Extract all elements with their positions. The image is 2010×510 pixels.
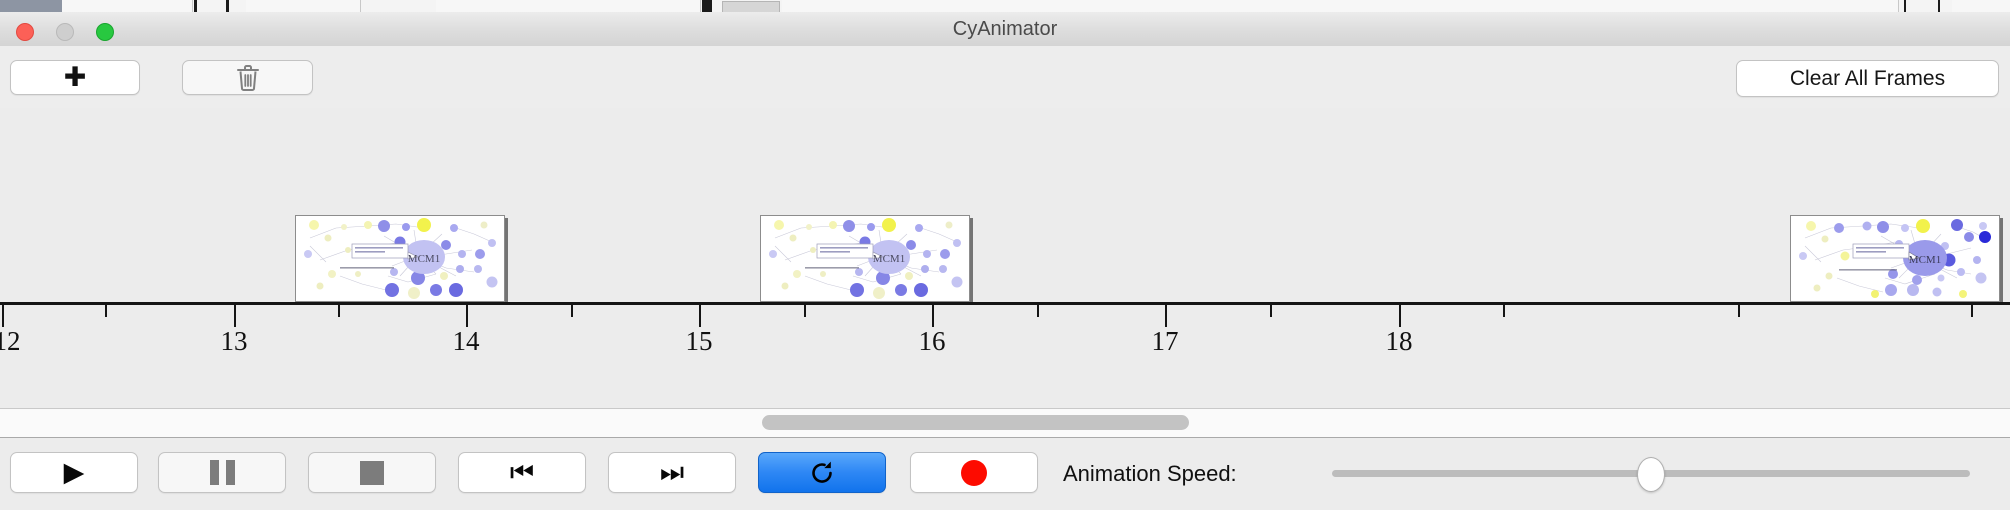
axis-label-12: 12 [0,326,21,357]
axis-tick-minor-6 [1270,305,1272,317]
timeline-scrollbar[interactable] [0,409,2010,438]
axis-label-17: 17 [1152,326,1179,357]
axis-tick-minor-3 [571,305,573,317]
title-bar: CyAnimator [0,12,2010,47]
animation-speed-slider[interactable] [1332,452,1970,494]
add-frame-button[interactable]: ✚ [10,60,140,95]
axis-tick-minor-4 [804,305,806,317]
axis-label-13: 13 [221,326,248,357]
axis-label-16: 16 [919,326,946,357]
axis-tick-minor-7 [1503,305,1505,317]
record-icon [961,460,987,486]
axis-label-18: 18 [1386,326,1413,357]
last-frame-button[interactable]: ⏭ [608,452,736,493]
delete-frame-button[interactable] [182,60,313,95]
axis-tick-minor-9 [1971,305,1973,317]
axis-tick-13 [234,305,236,327]
frame-toolbar: ✚ Clear All Frames [0,46,2010,109]
first-frame-button[interactable]: ⏮ [458,452,586,493]
window-title: CyAnimator [0,12,2010,46]
timeline-panel[interactable]: MCM1 [0,108,2010,409]
axis-tick-minor-1 [105,305,107,317]
pause-icon [210,460,235,485]
transport-bar: ▶ ⏮ ⏭ Animation Speed: [0,438,2010,510]
axis-tick-minor-2 [338,305,340,317]
record-button[interactable] [910,452,1038,493]
skip-back-icon: ⏮ [510,459,534,486]
timeline-axis-line [0,302,2010,305]
axis-tick-15 [699,305,701,327]
svg-text:MCM1: MCM1 [1909,254,1941,266]
axis-label-15: 15 [686,326,713,357]
animation-speed-label: Animation Speed: [1063,461,1237,487]
play-button[interactable]: ▶ [10,452,138,493]
clear-all-frames-button[interactable]: Clear All Frames [1736,60,1999,97]
plus-icon: ✚ [64,64,87,91]
axis-tick-minor-8 [1738,305,1740,317]
axis-tick-16 [932,305,934,327]
frame-thumbnail-1[interactable]: MCM1 [295,215,505,302]
axis-tick-17 [1165,305,1167,327]
skip-forward-icon: ⏭ [660,459,684,486]
frame-thumbnail-2[interactable]: MCM1 [760,215,970,302]
axis-tick-minor-5 [1037,305,1039,317]
svg-text:MCM1: MCM1 [873,253,905,265]
clear-all-frames-label: Clear All Frames [1790,67,1945,91]
axis-label-14: 14 [453,326,480,357]
animation-speed-slider-thumb[interactable] [1637,457,1665,492]
stop-icon [360,461,384,485]
stop-button[interactable] [308,452,436,493]
axis-tick-18 [1399,305,1401,327]
play-icon: ▶ [64,459,85,486]
trash-icon [236,64,260,92]
pause-button[interactable] [158,452,286,493]
svg-text:MCM1: MCM1 [408,253,440,265]
frame-thumbnail-3[interactable]: MCM1 [1790,215,2000,302]
timeline-scrollbar-thumb[interactable] [762,415,1189,430]
axis-tick-14 [466,305,468,327]
axis-tick-12 [2,305,4,327]
cyanimator-window: Shape CyAnimator ✚ Clear A [0,0,2010,510]
loop-icon [808,459,836,487]
loop-button[interactable] [758,452,886,493]
